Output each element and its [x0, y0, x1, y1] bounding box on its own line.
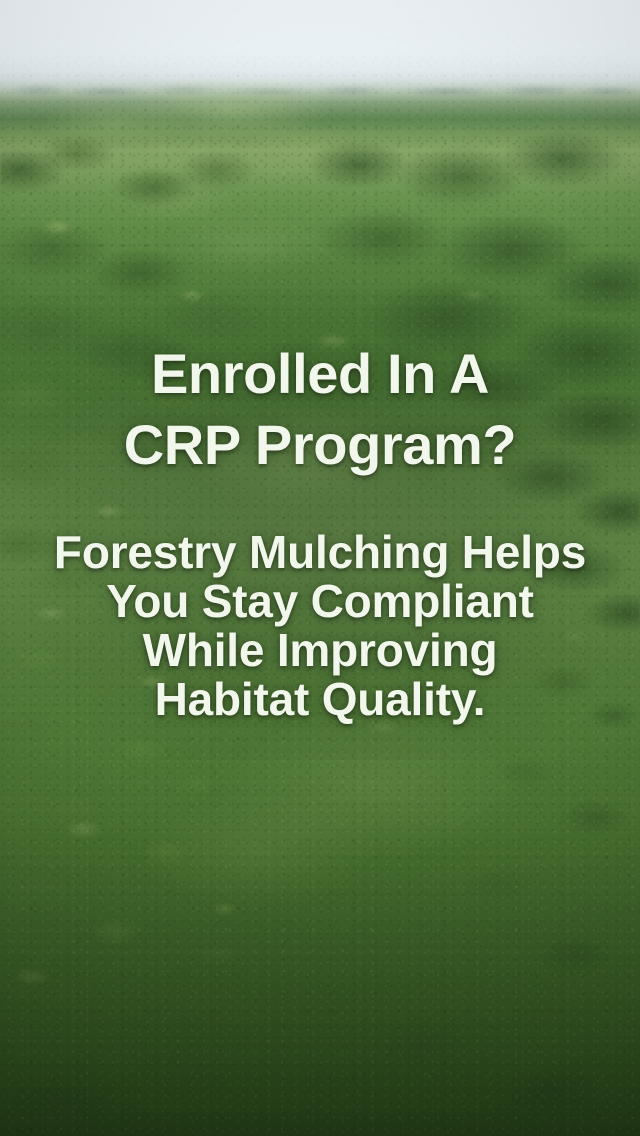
headline-text: Enrolled In A CRP Program?	[0, 338, 640, 480]
video-frame: Enrolled In A CRP Program? Forestry Mulc…	[0, 0, 640, 1136]
text-overlay: Enrolled In A CRP Program? Forestry Mulc…	[0, 0, 640, 1136]
subheadline-text: Forestry Mulching Helps You Stay Complia…	[0, 528, 640, 724]
